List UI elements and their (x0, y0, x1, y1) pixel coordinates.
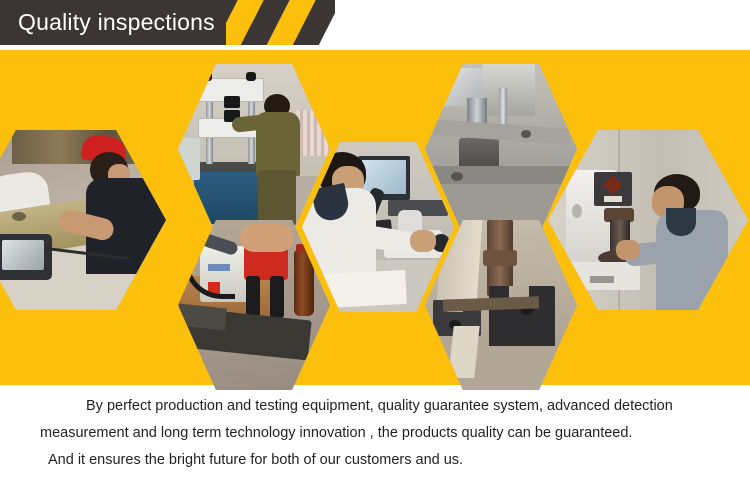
bottle-cap (296, 244, 312, 252)
top-knob-right (246, 72, 256, 81)
caption-line-2: measurement and long term technology inn… (40, 420, 716, 447)
specimen-hole (12, 212, 26, 221)
tester-display-readout (604, 196, 622, 202)
operator-trousers (258, 170, 296, 226)
control-console (178, 138, 200, 180)
operator-hand (240, 224, 294, 252)
page-title: Quality inspections (18, 9, 215, 36)
ram-housing (483, 64, 535, 116)
hex-photo-ndt-handheld-inspection[interactable] (0, 130, 166, 310)
caption-line-1: By perfect production and testing equipm… (40, 393, 716, 420)
radiator (296, 110, 330, 156)
header: Quality inspections (0, 0, 335, 45)
hex-photo-charpy-notch-fixture[interactable] (425, 220, 577, 390)
hex-photo-magnetic-particle-testing[interactable] (178, 220, 330, 390)
flaw-detector-screen (2, 240, 44, 270)
photo-scene (425, 220, 577, 390)
photo-scene (0, 130, 166, 310)
caption-line-3: And it ensures the bright future for bot… (40, 447, 716, 474)
fixing-bolt-right (521, 130, 531, 138)
plastic-bottle (294, 250, 314, 316)
white-panel-left (448, 326, 479, 378)
hexagon-photo-grid (0, 50, 750, 385)
caption-block: By perfect production and testing equipm… (40, 393, 716, 474)
quality-inspections-banner: Quality inspections (0, 0, 750, 485)
operator-collar (666, 208, 696, 236)
photo-scene (425, 64, 577, 234)
tester-side-knob (572, 204, 582, 218)
photo-scene (178, 64, 330, 234)
grip-jaw-upper (224, 96, 240, 108)
hex-photo-impact-drop-test[interactable] (425, 64, 577, 234)
shaft-collar (483, 250, 517, 266)
hex-photo-brinell-hardness-tester[interactable] (548, 130, 748, 310)
photo-scene (178, 220, 330, 390)
tester-base-label (590, 276, 614, 283)
lower-base-plate (425, 346, 577, 390)
photo-scene (548, 130, 748, 310)
bracket-flange (178, 304, 227, 331)
engineer-hand (410, 230, 436, 252)
paper-sheet (323, 270, 407, 308)
hex-photo-universal-testing-machine[interactable] (178, 64, 330, 234)
monitor-screen (362, 160, 406, 194)
diagonal-stripes-decoration (226, 0, 335, 45)
operator-hand (616, 240, 640, 260)
hex-photo-microscope-metallography[interactable] (302, 142, 454, 312)
photo-scene (302, 142, 454, 312)
fixing-bolt-left (451, 172, 463, 181)
yoke-leg-right (270, 276, 284, 318)
top-knob-left (202, 72, 212, 81)
